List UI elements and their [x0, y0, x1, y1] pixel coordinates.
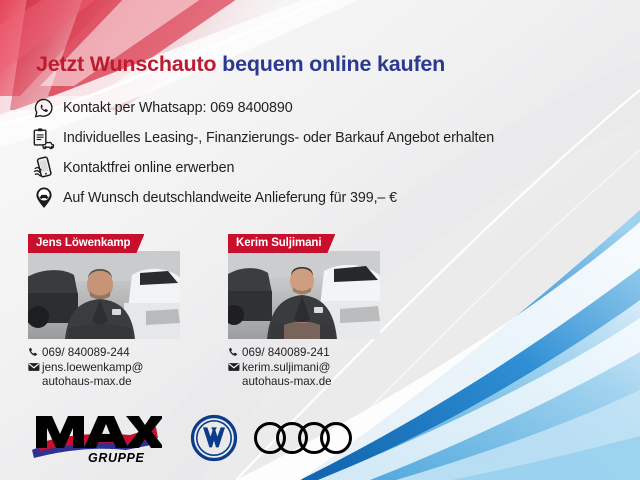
benefits-list: Kontakt per Whatsapp: 069 8400890 Indivi…	[31, 93, 611, 213]
page-title: Jetzt Wunschauto bequem online kaufen	[36, 52, 445, 77]
contact-email-line2: autohaus-max.de	[242, 375, 418, 390]
contact-email-line2: autohaus-max.de	[42, 375, 218, 390]
list-item: Auf Wunsch deutschlandweite Anlieferung …	[31, 183, 611, 213]
list-item-label: Individuelles Leasing-, Finanzierungs- o…	[63, 130, 494, 146]
vw-logo	[190, 414, 238, 462]
contact-phone: 069/ 840089-241	[242, 346, 330, 361]
whatsapp-icon	[31, 95, 57, 121]
contact-phone: 069/ 840089-244	[42, 346, 130, 361]
list-item: Kontakt per Whatsapp: 069 8400890	[31, 93, 611, 123]
contact-email-row: jens.loewenkamp@	[28, 361, 218, 376]
page-title-blue: bequem online kaufen	[222, 52, 445, 76]
list-item-label: Kontaktfrei online erwerben	[63, 160, 234, 176]
map-pin-car-icon	[31, 185, 57, 211]
promo-slide: Jetzt Wunschauto bequem online kaufen Ko…	[0, 0, 640, 480]
list-item: Individuelles Leasing-, Finanzierungs- o…	[31, 123, 611, 153]
contact-photo	[28, 251, 180, 339]
list-item-label: Kontakt per Whatsapp: 069 8400890	[63, 100, 293, 116]
brand-logos: GRUPPE	[30, 410, 356, 466]
contact-details: 069/ 840089-241 kerim.suljimani@ autohau…	[228, 346, 418, 390]
clipboard-car-icon	[31, 125, 57, 151]
contact-photo	[228, 251, 380, 339]
contact-name-badge: Kerim Suljimani	[228, 234, 335, 253]
contact-email-line1: jens.loewenkamp@	[42, 361, 143, 376]
contact-phone-row: 069/ 840089-244	[28, 346, 218, 361]
contact-email-row: kerim.suljimani@	[228, 361, 418, 376]
max-gruppe-sub: GRUPPE	[88, 451, 144, 465]
contact-name-badge: Jens Löwenkamp	[28, 234, 144, 253]
contact-details: 069/ 840089-244 jens.loewenkamp@ autohau…	[28, 346, 218, 390]
audi-logo	[252, 414, 356, 462]
email-icon	[28, 361, 42, 372]
hand-phone-icon	[31, 155, 57, 181]
list-item-label: Auf Wunsch deutschlandweite Anlieferung …	[63, 190, 397, 206]
contact-card: Kerim Suljimani	[228, 233, 418, 390]
contact-phone-row: 069/ 840089-241	[228, 346, 418, 361]
list-item: Kontaktfrei online erwerben	[31, 153, 611, 183]
page-title-red: Jetzt Wunschauto	[36, 52, 216, 76]
email-icon	[228, 361, 242, 372]
phone-icon	[28, 346, 42, 358]
contact-card: Jens Löwenkamp	[28, 233, 218, 390]
max-gruppe-logo: GRUPPE	[30, 410, 162, 466]
contact-email-line1: kerim.suljimani@	[242, 361, 330, 376]
phone-icon	[228, 346, 242, 358]
